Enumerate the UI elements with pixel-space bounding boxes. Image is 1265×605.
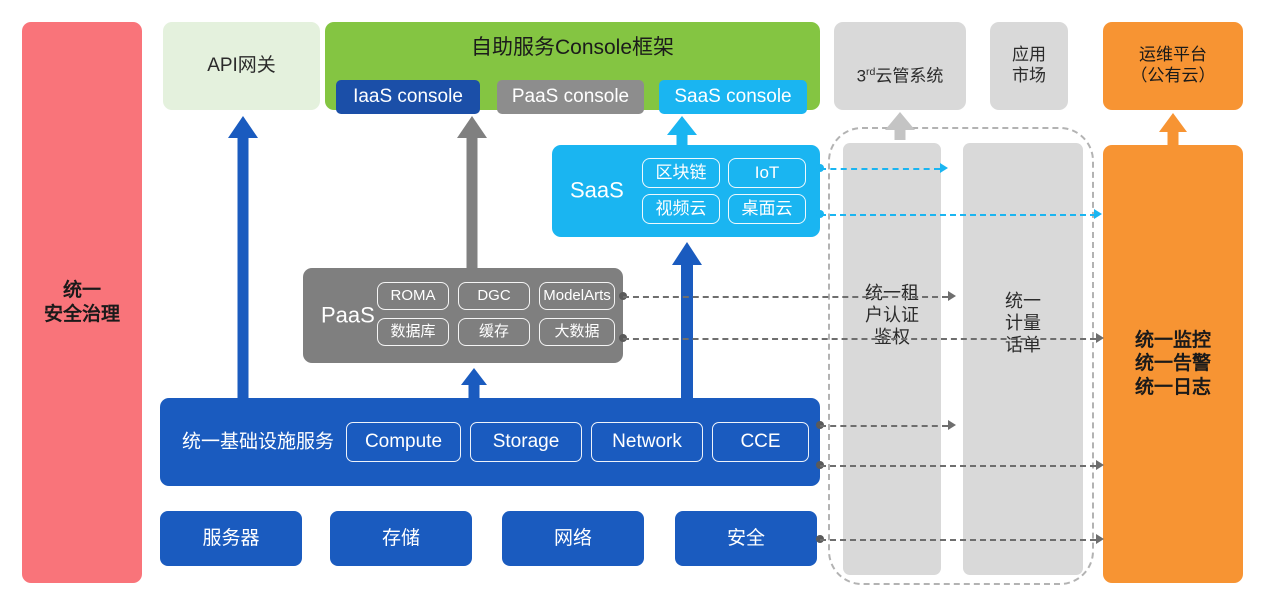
saas-service-video-cloud-label: 视频云 <box>656 199 707 220</box>
paas-service-database[interactable]: 数据库 <box>377 318 449 346</box>
paas-service-modelarts-label: ModelArts <box>543 287 611 305</box>
console-pill-saas-label: SaaS console <box>674 85 791 108</box>
saas-service-blockchain-label: 区块链 <box>656 163 707 184</box>
third-party-rest: 云管系统 <box>875 66 943 85</box>
ops-platform-box: 运维平台 （公有云） <box>1103 22 1243 110</box>
console-pill-paas[interactable]: PaaS console <box>497 80 644 114</box>
app-market-box: 应用 市场 <box>990 22 1068 110</box>
ops-monitoring-label: 统一监控 统一告警 统一日志 <box>1135 329 1211 399</box>
iaas-service-storage-label: Storage <box>493 430 560 453</box>
hardware-box-security-label: 安全 <box>727 527 765 550</box>
connector-arrowhead-saas-auth <box>940 163 948 173</box>
paas-layer-box: PaaS ROMA DGC ModelArts 数据库 缓存 大数据 <box>303 268 623 363</box>
connector-arrowhead-hardware-ops <box>1096 534 1104 544</box>
arrow-iaas-to-paas <box>460 368 488 398</box>
arrow-iaas-to-saas <box>672 242 702 398</box>
connector-arrowhead-iaas-ops <box>1096 460 1104 470</box>
paas-service-cache-label: 缓存 <box>479 323 509 341</box>
console-pill-group: IaaS console PaaS console SaaS console <box>325 80 820 116</box>
connector-iaas-to-ops <box>820 465 1096 467</box>
arrow-paas-to-console <box>457 116 487 268</box>
security-governance-column: 统一 安全治理 <box>22 22 142 583</box>
unified-metering-billing-label: 统一 计量 话单 <box>963 291 1083 357</box>
connector-paas-to-ops <box>623 338 1096 340</box>
paas-service-dgc[interactable]: DGC <box>458 282 530 310</box>
paas-service-database-label: 数据库 <box>390 323 435 341</box>
iaas-service-compute-label: Compute <box>365 430 442 453</box>
paas-service-cache[interactable]: 缓存 <box>458 318 530 346</box>
hardware-box-storage: 存储 <box>330 511 472 566</box>
console-pill-paas-label: PaaS console <box>512 85 629 108</box>
arrow-saas-to-console <box>667 116 697 145</box>
api-gateway-box: API网关 <box>163 22 320 110</box>
third-party-prefix: 3 <box>857 66 866 85</box>
saas-service-desktop-cloud-label: 桌面云 <box>742 199 793 220</box>
paas-service-roma-label: ROMA <box>391 287 436 305</box>
paas-service-dgc-label: DGC <box>477 287 510 305</box>
saas-service-video-cloud[interactable]: 视频云 <box>642 194 720 224</box>
console-pill-iaas[interactable]: IaaS console <box>336 80 480 114</box>
saas-service-blockchain[interactable]: 区块链 <box>642 158 720 188</box>
hardware-box-security: 安全 <box>675 511 817 566</box>
saas-layer-name: SaaS <box>570 178 624 205</box>
ops-platform-label: 运维平台 （公有云） <box>1131 45 1216 86</box>
connector-saas-to-auth <box>820 168 940 170</box>
saas-service-desktop-cloud[interactable]: 桌面云 <box>728 194 806 224</box>
saas-layer-box: SaaS 区块链 IoT 视频云 桌面云 <box>552 145 820 237</box>
connector-iaas-to-auth <box>820 425 948 427</box>
console-framework-box: 自助服务Console框架 IaaS console PaaS console … <box>325 22 820 110</box>
console-pill-iaas-label: IaaS console <box>353 85 463 108</box>
paas-service-roma[interactable]: ROMA <box>377 282 449 310</box>
paas-service-bigdata-label: 大数据 <box>554 323 599 341</box>
security-governance-label: 统一 安全治理 <box>44 279 120 325</box>
console-framework-title: 自助服务Console框架 <box>471 35 674 61</box>
paas-layer-name: PaaS <box>321 302 375 329</box>
unified-tenant-auth-column: 统一租 户认证 鉴权 <box>843 143 941 575</box>
saas-service-iot-label: IoT <box>755 163 780 184</box>
architecture-diagram: 统一 安全治理 API网关 自助服务Console框架 IaaS console… <box>0 0 1265 605</box>
third-party-cloud-management-label: 3rd云管系统 <box>857 45 944 87</box>
connector-saas-to-ops <box>820 214 1096 216</box>
paas-service-modelarts[interactable]: ModelArts <box>539 282 615 310</box>
iaas-service-network-label: Network <box>612 430 682 453</box>
unified-metering-billing-column: 统一 计量 话单 <box>963 143 1083 575</box>
third-party-cloud-management-box: 3rd云管系统 <box>834 22 966 110</box>
hardware-box-network-label: 网络 <box>554 527 592 550</box>
arrow-ops-column-to-platform <box>1158 113 1188 146</box>
ops-monitoring-column: 统一监控 统一告警 统一日志 <box>1103 145 1243 583</box>
connector-arrowhead-saas-ops <box>1094 209 1102 219</box>
arrow-iaas-to-api-gateway <box>228 116 258 398</box>
connector-arrowhead-paas-ops <box>1096 333 1104 343</box>
iaas-service-cce-label: CCE <box>740 430 780 453</box>
console-pill-saas[interactable]: SaaS console <box>659 80 807 114</box>
iaas-service-cce[interactable]: CCE <box>712 422 809 462</box>
hardware-box-server-label: 服务器 <box>202 527 259 550</box>
paas-service-bigdata[interactable]: 大数据 <box>539 318 615 346</box>
connector-arrowhead-paas-auth <box>948 291 956 301</box>
saas-service-iot[interactable]: IoT <box>728 158 806 188</box>
iaas-service-network[interactable]: Network <box>591 422 703 462</box>
hardware-box-storage-label: 存储 <box>382 527 420 550</box>
connector-hardware-to-ops <box>820 539 1096 541</box>
connector-paas-to-auth <box>623 296 948 298</box>
connector-arrowhead-iaas-auth <box>948 420 956 430</box>
arrow-shared-to-third-party <box>885 112 915 140</box>
hardware-box-server: 服务器 <box>160 511 302 566</box>
iaas-service-compute[interactable]: Compute <box>346 422 461 462</box>
api-gateway-label: API网关 <box>207 54 276 77</box>
unified-infrastructure-name: 统一基础设施服务 <box>182 430 334 453</box>
unified-infrastructure-bar: 统一基础设施服务 Compute Storage Network CCE <box>160 398 820 486</box>
iaas-service-storage[interactable]: Storage <box>470 422 582 462</box>
app-market-label: 应用 市场 <box>1012 45 1046 86</box>
hardware-box-network: 网络 <box>502 511 644 566</box>
